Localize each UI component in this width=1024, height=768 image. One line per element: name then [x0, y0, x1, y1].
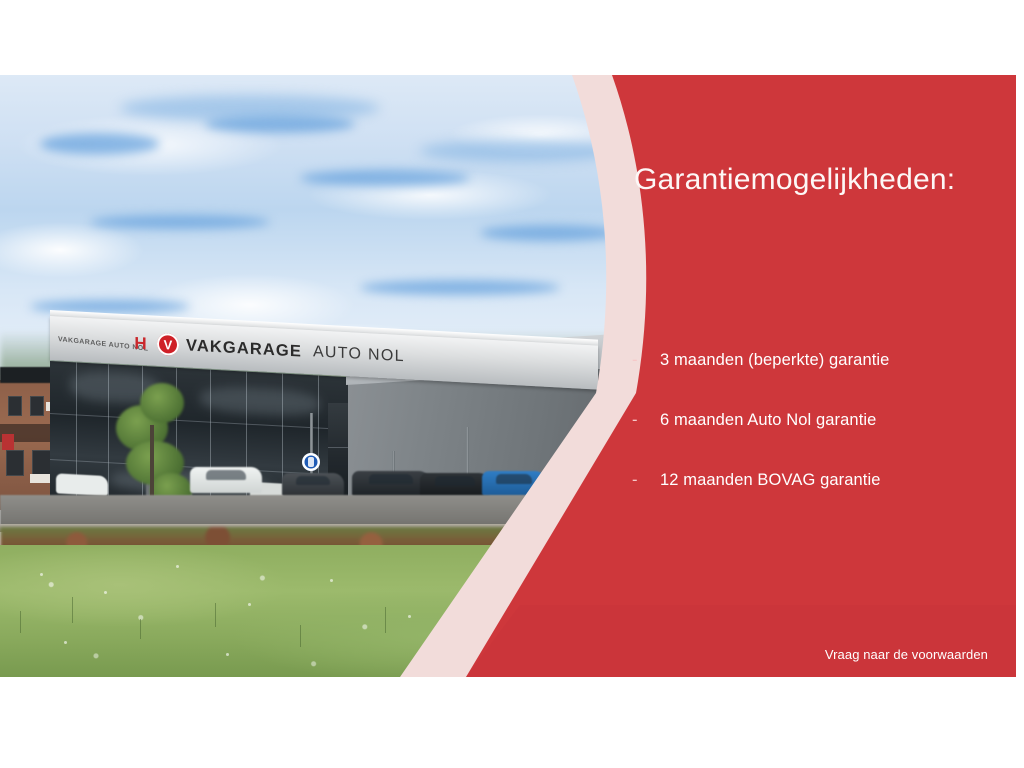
list-item-label: 6 maanden Auto Nol garantie: [660, 411, 876, 430]
panel-text-layer: Garantiemogelijkheden: - 3 maanden (bepe…: [0, 75, 1016, 677]
list-item: - 12 maanden BOVAG garantie: [632, 471, 992, 490]
bullet-dash-icon: -: [632, 471, 660, 490]
list-item-label: 12 maanden BOVAG garantie: [660, 471, 881, 490]
footer-note: Vraag naar de voorwaarden: [825, 647, 988, 662]
warranty-options-list: - 3 maanden (beperkte) garantie - 6 maan…: [632, 351, 992, 531]
bullet-dash-icon: -: [632, 411, 660, 430]
list-item-label: 3 maanden (beperkte) garantie: [660, 351, 889, 370]
slide-canvas: WWW.AUTONOL.NL VAKGARAGE AUTO NOL H V VA…: [0, 0, 1024, 768]
list-item: - 6 maanden Auto Nol garantie: [632, 411, 992, 430]
banner-stage: WWW.AUTONOL.NL VAKGARAGE AUTO NOL H V VA…: [0, 75, 1016, 677]
page-title: Garantiemogelijkheden:: [634, 163, 955, 197]
bullet-dash-icon: -: [632, 351, 660, 370]
list-item: - 3 maanden (beperkte) garantie: [632, 351, 992, 370]
